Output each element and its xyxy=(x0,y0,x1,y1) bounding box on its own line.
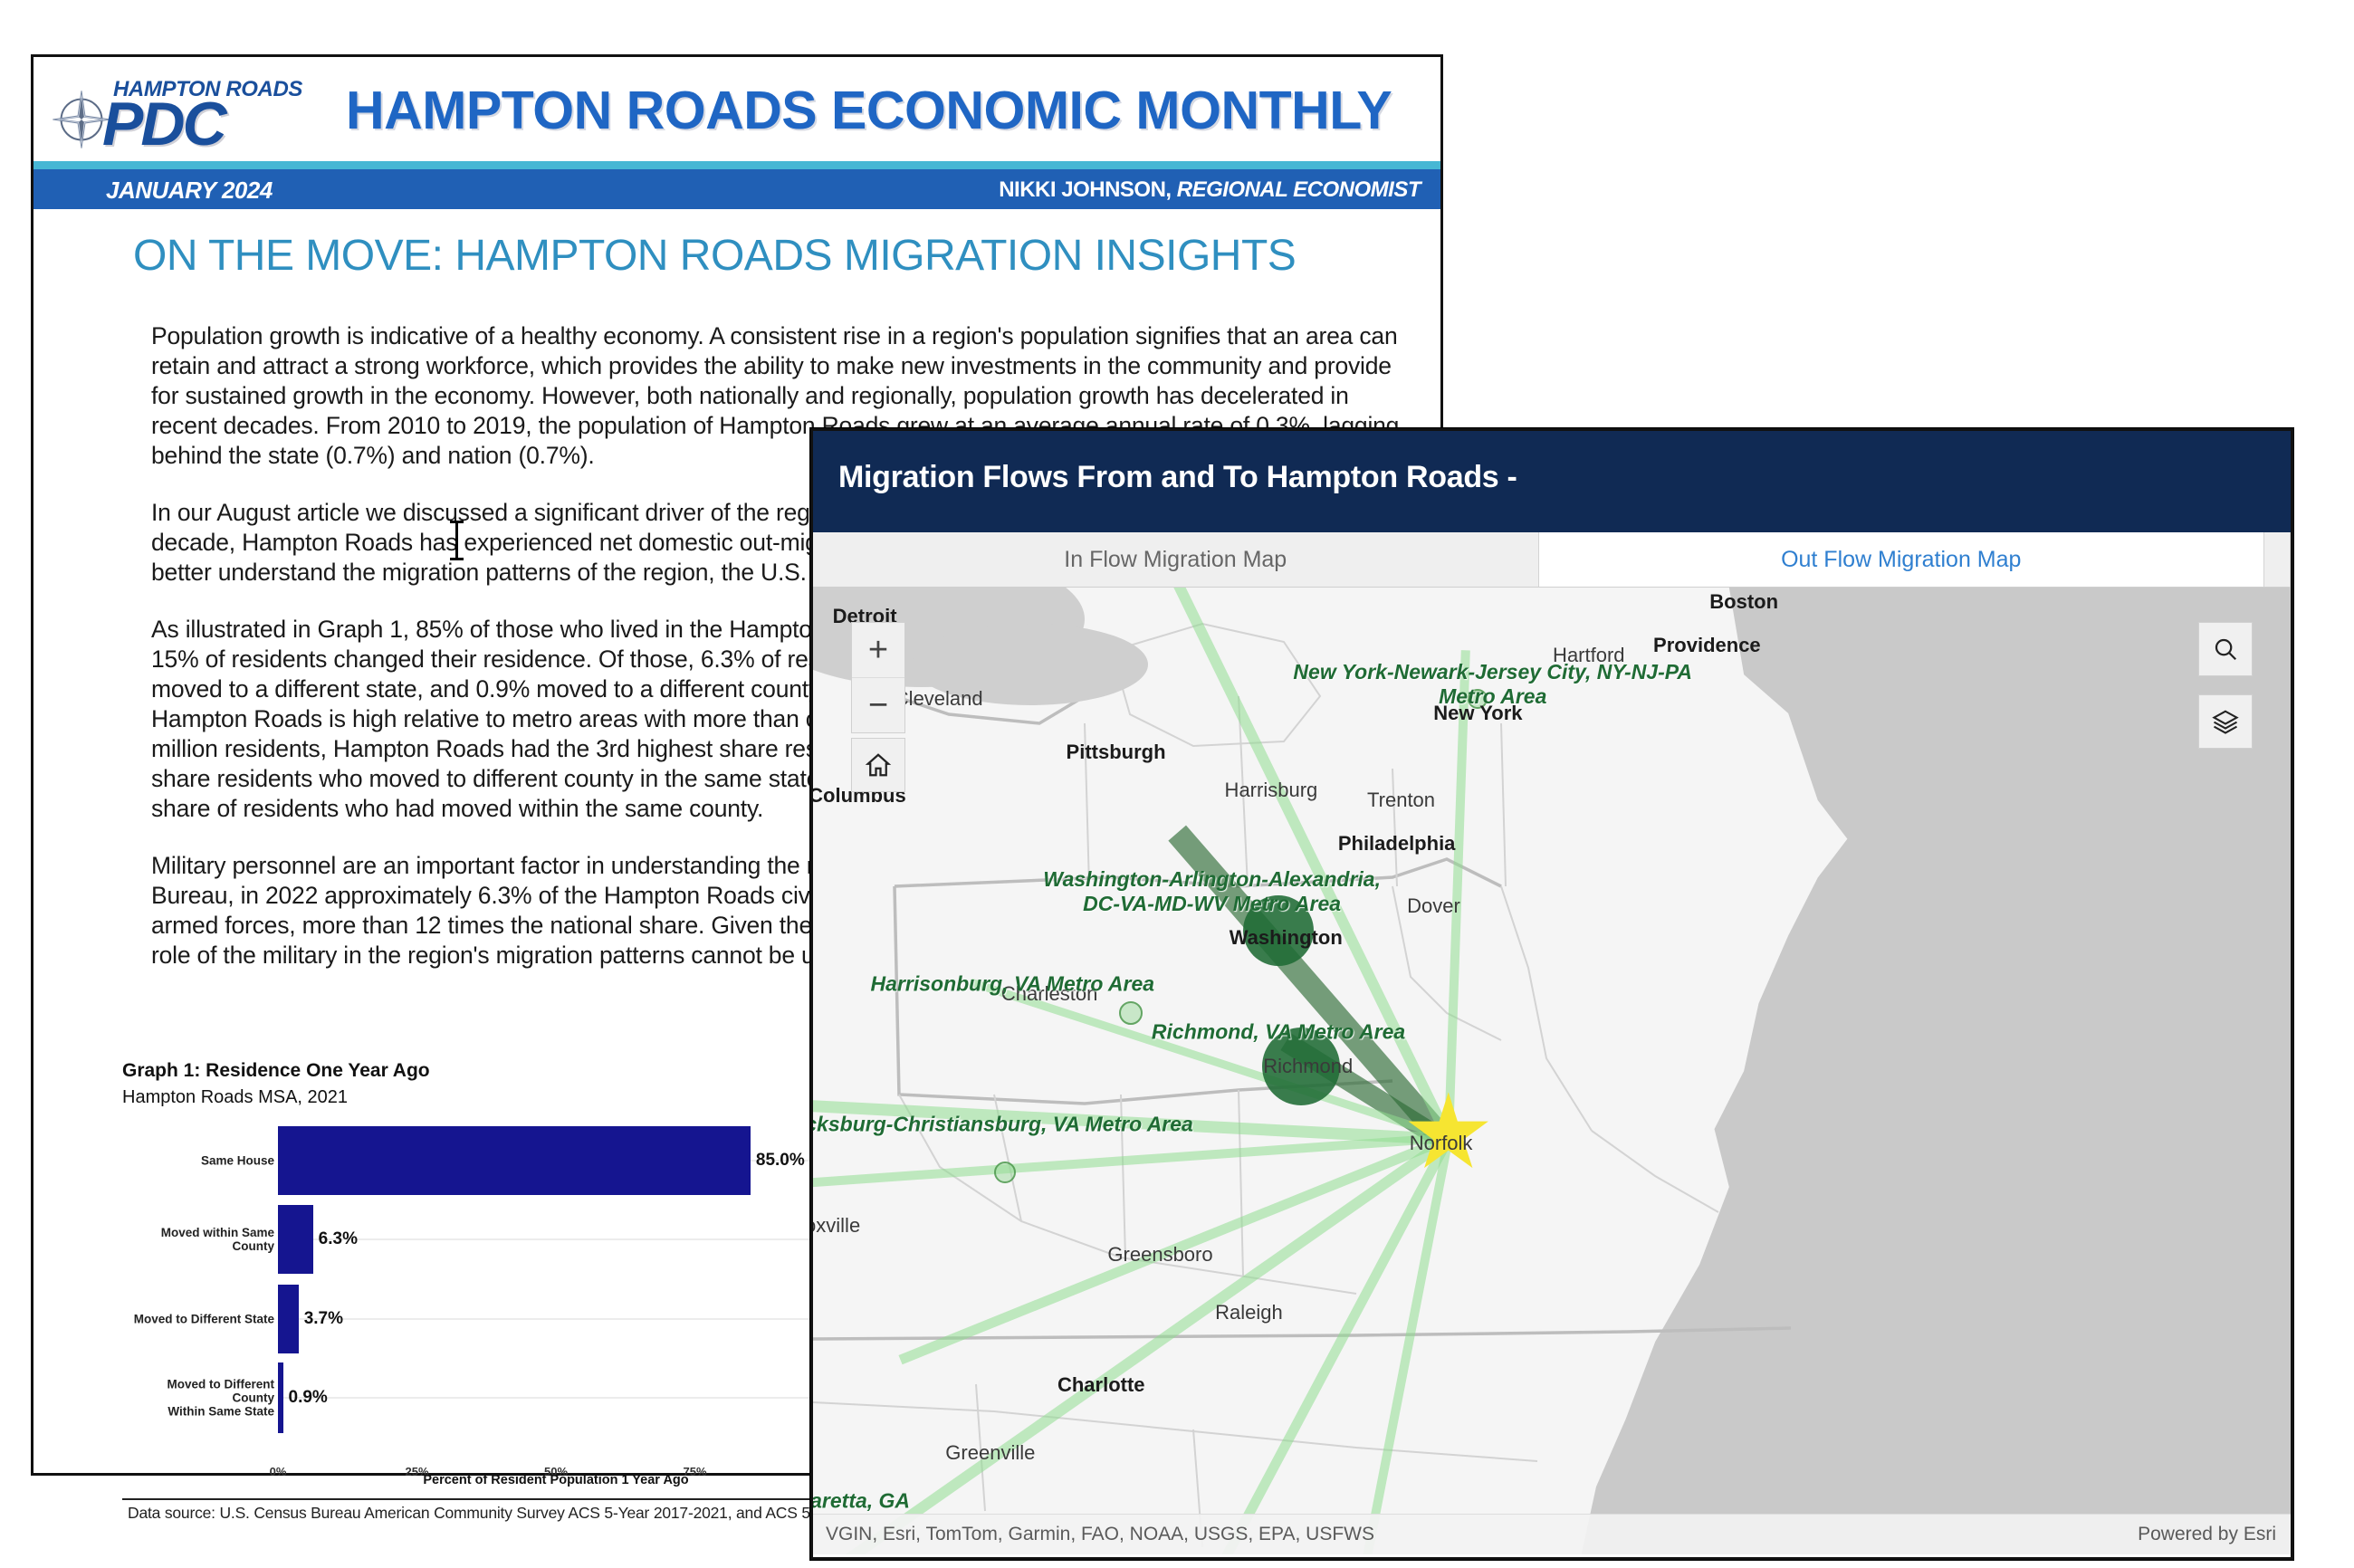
node-blacksburg[interactable] xyxy=(994,1162,1016,1183)
chart-value-label: 85.0% xyxy=(756,1151,805,1171)
chart-value-label: 6.3% xyxy=(319,1229,358,1249)
data-source-note: Data source: U.S. Census Bureau American… xyxy=(128,1504,864,1523)
map-attribution-bar: VGIN, Esri, TomTom, Garmin, FAO, NOAA, U… xyxy=(813,1514,2291,1554)
state-boundaries xyxy=(813,588,2291,1554)
chart-plot-area: Same House85.0%Moved within Same County6… xyxy=(122,1121,847,1438)
zoom-out-button[interactable]: − xyxy=(852,678,904,732)
app-title: Migration Flows From and To Hampton Road… xyxy=(838,460,1517,495)
text-cursor xyxy=(455,521,458,560)
map-metro-area-label: Blacksburg-Christiansburg, VA Metro Area xyxy=(813,1112,1193,1136)
article-title: ON THE MOVE: HAMPTON ROADS MIGRATION INS… xyxy=(133,231,1440,281)
chart-value-label: 0.9% xyxy=(289,1388,328,1408)
map-metro-area-label: s-Alpharetta, GA xyxy=(813,1489,910,1514)
chart-gridline xyxy=(278,1318,834,1319)
chart-category-label: Moved to Different CountyWithin Same Sta… xyxy=(129,1378,274,1419)
map-metro-area-label: Harrisonburg, VA Metro Area xyxy=(871,971,1155,996)
map-city-label: Cleveland xyxy=(895,687,983,711)
masthead-title: HAMPTON ROADS ECONOMIC MONTHLY xyxy=(346,80,1392,141)
map-city-label: Providence xyxy=(1653,634,1761,657)
zoom-control-group: + − xyxy=(851,622,905,733)
chart-x-axis: 0%25%50%75%100% xyxy=(278,1465,834,1466)
map-city-label: Boston xyxy=(1709,590,1778,614)
map-city-label: Harrisburg xyxy=(1225,779,1318,802)
map-city-label: Trenton xyxy=(1367,789,1435,812)
map-city-label: Dover xyxy=(1407,894,1460,918)
issue-month: JANUARY 2024 xyxy=(106,177,273,205)
issue-bar: JANUARY 2024 NIKKI JOHNSON, REGIONAL ECO… xyxy=(33,169,1440,209)
migration-map-app: Migration Flows From and To Hampton Road… xyxy=(810,428,2293,1560)
map-city-label: Knoxville xyxy=(813,1214,860,1238)
map-metro-area-label: New York-Newark-Jersey City, NY-NJ-PAMet… xyxy=(1293,660,1692,709)
chart-x-label: Percent of Resident Population 1 Year Ag… xyxy=(278,1473,834,1487)
logo-big-text: PDC xyxy=(102,93,225,155)
home-button[interactable] xyxy=(851,738,905,792)
attribution-sources: VGIN, Esri, TomTom, Garmin, FAO, NOAA, U… xyxy=(826,1524,1374,1545)
map-city-label: Richmond xyxy=(1263,1055,1353,1078)
map-city-label: Greenville xyxy=(945,1441,1035,1465)
search-icon xyxy=(2212,636,2239,663)
chart-bar xyxy=(278,1285,299,1353)
tab-in-flow-migration-map[interactable]: In Flow Migration Map xyxy=(813,532,1539,587)
map-tab-bar: In Flow Migration Map Out Flow Migration… xyxy=(813,532,2291,588)
chart-subtitle: Hampton Roads MSA, 2021 xyxy=(122,1087,847,1108)
node-harrisonburg[interactable] xyxy=(1119,1001,1143,1025)
masthead: HAMPTON ROADS PDC HAMPTON ROADS ECONOMIC… xyxy=(33,57,1440,169)
search-button[interactable] xyxy=(2198,622,2253,676)
chart-bar xyxy=(278,1205,313,1274)
chart-category-label: Moved within Same County xyxy=(129,1226,274,1253)
zoom-in-button[interactable]: + xyxy=(852,623,904,678)
map-city-label: Greensboro xyxy=(1107,1243,1212,1267)
chart-bar-row: Same House85.0% xyxy=(122,1121,847,1200)
chart-gridline xyxy=(278,1239,834,1240)
map-canvas[interactable]: DetroitClevelandColumbusPittsburghHarris… xyxy=(813,588,2291,1554)
author-role: REGIONAL ECONOMIST xyxy=(1177,177,1421,202)
tab-out-flow-migration-map[interactable]: Out Flow Migration Map xyxy=(1539,532,2265,587)
home-icon xyxy=(865,751,892,779)
chart-gridline xyxy=(278,1398,834,1399)
chart-value-label: 3.7% xyxy=(304,1309,343,1329)
chart-bar-row: Moved to Different CountyWithin Same Sta… xyxy=(122,1359,847,1439)
author-byline: NIKKI JOHNSON, REGIONAL ECONOMIST xyxy=(999,177,1421,203)
map-metro-area-label: Washington-Arlington-Alexandria,DC-VA-MD… xyxy=(1043,867,1381,916)
chart-bar-row: Moved within Same County6.3% xyxy=(122,1200,847,1280)
chart-bar-row: Moved to Different State3.7% xyxy=(122,1279,847,1359)
chart-category-label: Same House xyxy=(129,1153,274,1167)
map-city-label: Philadelphia xyxy=(1338,832,1456,856)
attribution-powered-by: Powered by Esri xyxy=(2138,1524,2276,1545)
chart-category-label: Moved to Different State xyxy=(129,1312,274,1325)
layers-button[interactable] xyxy=(2198,694,2253,749)
author-name: NIKKI JOHNSON, xyxy=(999,177,1171,202)
layers-icon xyxy=(2212,708,2239,735)
map-city-label: Pittsburgh xyxy=(1067,741,1166,764)
map-city-label: Norfolk xyxy=(1410,1132,1473,1155)
pdc-logo: HAMPTON ROADS PDC xyxy=(52,64,323,155)
map-city-label: Raleigh xyxy=(1215,1301,1283,1324)
map-city-label: Charlotte xyxy=(1057,1373,1145,1397)
app-header: Migration Flows From and To Hampton Road… xyxy=(813,431,2291,532)
tab-bar-spacer xyxy=(2264,532,2291,587)
map-city-label: Washington xyxy=(1230,926,1343,950)
chart-title: Graph 1: Residence One Year Ago xyxy=(122,1060,847,1082)
chart-bar xyxy=(278,1362,283,1433)
graph-1: Graph 1: Residence One Year Ago Hampton … xyxy=(122,1060,847,1486)
map-metro-area-label: Richmond, VA Metro Area xyxy=(1152,1020,1405,1045)
chart-bar xyxy=(278,1126,751,1195)
